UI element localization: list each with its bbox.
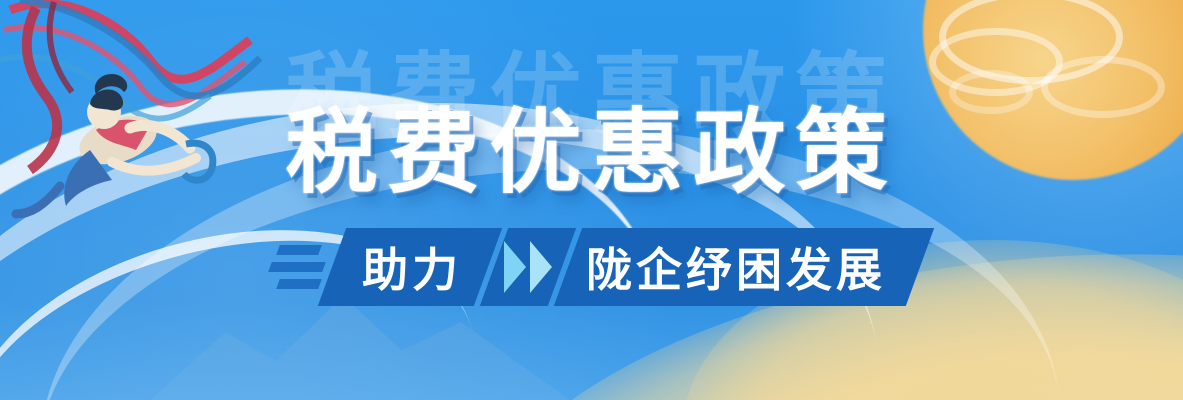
- promo-banner: 税费优惠政策 税费优惠政策 助力 陇企纾困发展: [0, 0, 1183, 400]
- subtitle-left-text: 助力: [362, 234, 462, 300]
- page-title-wrap: 税费优惠政策: [0, 78, 1183, 211]
- subtitle-banner-wrap: 助力 陇企纾困发展: [0, 228, 1183, 306]
- subtitle-right-plate: 陇企纾困发展: [553, 228, 933, 306]
- page-title: 税费优惠政策: [285, 78, 897, 211]
- subtitle-left-plate: 助力: [317, 228, 501, 306]
- speed-dashes-icon: [264, 245, 324, 289]
- subtitle-banner: 助力 陇企纾困发展: [264, 228, 920, 306]
- subtitle-right-text: 陇企纾困发展: [586, 243, 886, 297]
